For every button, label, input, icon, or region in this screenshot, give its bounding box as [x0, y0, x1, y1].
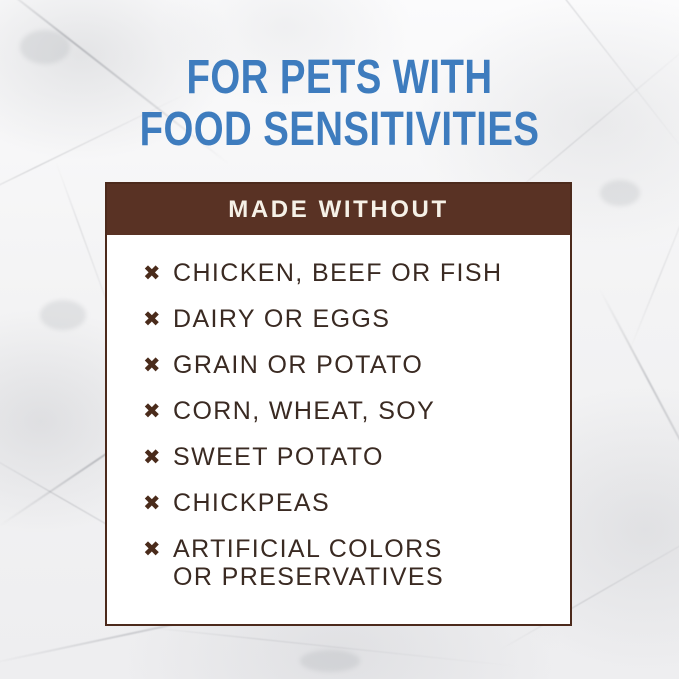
- list-item-label: CHICKEN, BEEF OR FISH: [173, 259, 502, 287]
- card-header: MADE WITHOUT: [107, 184, 570, 235]
- list-item-label: GRAIN OR POTATO: [173, 351, 423, 379]
- list-item-label: DAIRY OR EGGS: [173, 305, 390, 333]
- marble-speck: [40, 300, 86, 330]
- list-item: ✖ DAIRY OR EGGS: [143, 305, 570, 351]
- marble-speck: [20, 30, 70, 64]
- list-item-label: CORN, WHEAT, SOY: [173, 397, 435, 425]
- list-item: ✖ ARTIFICIAL COLORS OR PRESERVATIVES: [143, 535, 570, 591]
- made-without-card: MADE WITHOUT ✖ CHICKEN, BEEF OR FISH ✖ D…: [105, 182, 572, 626]
- ingredient-list: ✖ CHICKEN, BEEF OR FISH ✖ DAIRY OR EGGS …: [107, 235, 570, 624]
- headline-line-1: FOR PETS WITH: [68, 52, 611, 104]
- page-title: FOR PETS WITH FOOD SENSITIVITIES: [68, 52, 611, 156]
- list-item: ✖ CHICKEN, BEEF OR FISH: [143, 259, 570, 305]
- list-item: ✖ CORN, WHEAT, SOY: [143, 397, 570, 443]
- list-item-label: ARTIFICIAL COLORS OR PRESERVATIVES: [173, 535, 444, 591]
- list-item: ✖ CHICKPEAS: [143, 489, 570, 535]
- cross-mark-icon: ✖: [143, 397, 173, 425]
- list-item-label: SWEET POTATO: [173, 443, 384, 471]
- list-item-label: CHICKPEAS: [173, 489, 330, 517]
- marble-speck: [600, 180, 640, 206]
- marble-vein: [628, 148, 679, 352]
- headline-line-2: FOOD SENSITIVITIES: [68, 104, 611, 156]
- marble-speck: [300, 650, 360, 672]
- cross-mark-icon: ✖: [143, 489, 173, 517]
- cross-mark-icon: ✖: [143, 259, 173, 287]
- cross-mark-icon: ✖: [143, 443, 173, 471]
- list-item: ✖ GRAIN OR POTATO: [143, 351, 570, 397]
- card-header-title: MADE WITHOUT: [228, 196, 449, 224]
- cross-mark-icon: ✖: [143, 535, 173, 563]
- cross-mark-icon: ✖: [143, 351, 173, 379]
- cross-mark-icon: ✖: [143, 305, 173, 333]
- list-item: ✖ SWEET POTATO: [143, 443, 570, 489]
